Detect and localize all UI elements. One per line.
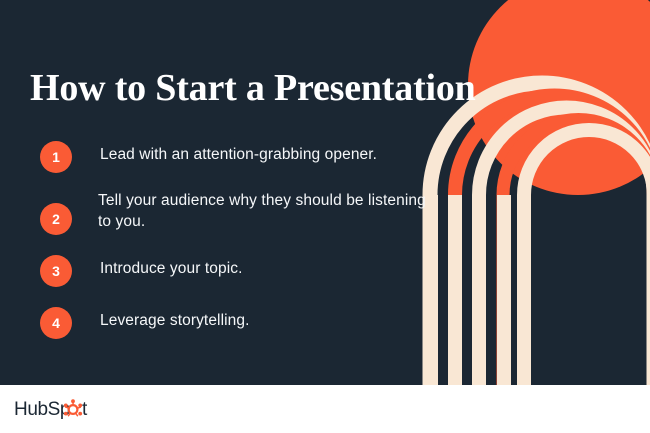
step-item-3: 3 Introduce your topic.: [40, 252, 440, 298]
step-item-1: 1 Lead with an attention-grabbing opener…: [40, 138, 440, 184]
slide-canvas: How to Start a Presentation 1 Lead with …: [0, 0, 650, 385]
step-number-badge: 2: [40, 203, 72, 235]
hubspot-wordmark-right: t: [82, 399, 88, 420]
step-number-badge: 4: [40, 307, 72, 339]
steps-list: 1 Lead with an attention-grabbing opener…: [40, 138, 440, 356]
step-text: Lead with an attention-grabbing opener.: [100, 138, 440, 165]
step-text: Tell your audience why they should be li…: [98, 190, 440, 232]
hubspot-wordmark-left: HubSp: [14, 399, 70, 420]
hubspot-logo: HubSp t: [14, 397, 118, 421]
presentation-slide-screenshot: How to Start a Presentation 1 Lead with …: [0, 0, 650, 433]
step-item-2: 2 Tell your audience why they should be …: [40, 190, 440, 248]
footer-bar: HubSp t: [0, 385, 650, 433]
step-text: Introduce your topic.: [100, 252, 440, 279]
step-number-badge: 1: [40, 141, 72, 173]
orange-circle-shape: [468, 0, 650, 195]
concentric-arcs-shape: [430, 83, 650, 385]
step-text: Leverage storytelling.: [100, 304, 440, 331]
step-number-badge: 3: [40, 255, 72, 287]
step-item-4: 4 Leverage storytelling.: [40, 304, 440, 350]
slide-title: How to Start a Presentation: [30, 66, 476, 110]
